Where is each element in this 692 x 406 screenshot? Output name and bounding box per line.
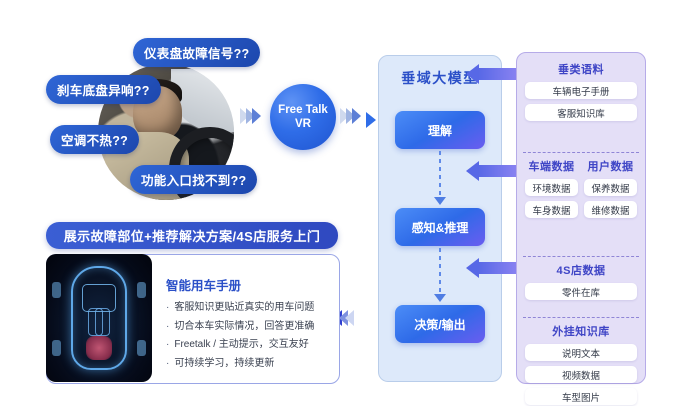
- stage-decision-output[interactable]: 决策/输出: [395, 305, 485, 343]
- column-user-data: 用户数据 保养数据 维修数据: [584, 158, 637, 218]
- result-card: 智能用车手册 · 客服知识更贴近真实的用车问题 · 切合本车实际情况，回答更准确…: [46, 254, 340, 384]
- result-bullet: · 切合本车实际情况，回答更准确: [166, 320, 329, 335]
- bullet-marker: ·: [166, 320, 169, 335]
- chevron-right-icon: [252, 108, 261, 124]
- stage-reasoning[interactable]: 感知&推理: [395, 208, 485, 246]
- freetalk-vr-node: Free Talk VR: [270, 84, 336, 150]
- chip-corpus-service-kb[interactable]: 客服知识库: [525, 104, 637, 121]
- section-title: 4S店数据: [525, 262, 637, 278]
- result-bullet: · 可持续学习，持续更新: [166, 357, 329, 372]
- section-title: 外挂知识库: [525, 323, 637, 339]
- model-pipeline-panel: 垂域大模型 理解 感知&推理 决策/输出: [378, 55, 502, 382]
- chip-body-data[interactable]: 车身数据: [525, 201, 578, 218]
- car-wheel: [52, 282, 61, 298]
- divider: [523, 152, 639, 153]
- chip-repair-data[interactable]: 维修数据: [584, 201, 637, 218]
- result-card-title: 智能用车手册: [166, 275, 329, 294]
- data-sources-panel: 垂类语料 车辆电子手册 客服知识库 车端数据 环境数据 车身数据 用户数据 保养…: [516, 52, 646, 384]
- dashed-connector: [439, 248, 441, 296]
- result-bullet: · 客服知识更贴近真实的用车问题: [166, 301, 329, 316]
- chevron-left-icon: [345, 310, 354, 326]
- infographic-canvas: 仪表盘故障信号?? 刹车底盘异响?? 空调不热?? 功能入口找不到?? Free…: [0, 0, 692, 406]
- feed-arrow-corpus: [478, 68, 520, 80]
- section-dealer-data: 4S店数据 零件在库: [525, 262, 637, 300]
- chip-car-model-images[interactable]: 车型图片: [525, 388, 637, 405]
- chip-video-data[interactable]: 视频数据: [525, 366, 637, 383]
- feed-arrow-data: [478, 165, 520, 177]
- car-wheel: [52, 340, 61, 356]
- stage-label: 理解: [428, 122, 452, 139]
- result-bullet: · Freetalk / 主动提示，交互友好: [166, 338, 329, 353]
- car-seat-right: [95, 308, 110, 336]
- arrow-into-model-icon: [366, 112, 376, 128]
- stage-understand[interactable]: 理解: [395, 111, 485, 149]
- divider: [523, 256, 639, 257]
- car-xray-image: [46, 254, 152, 382]
- result-banner-text: 展示故障部位+推荐解决方案/4S店服务上门: [64, 226, 321, 245]
- freetalk-line1: Free Talk: [278, 103, 328, 117]
- car-engine-highlight: [86, 336, 112, 360]
- bubble-text: 仪表盘故障信号??: [144, 43, 249, 62]
- column-vehicle-data: 车端数据 环境数据 车身数据: [525, 158, 578, 218]
- section-external-knowledge-base: 外挂知识库 说明文本 视频数据 车型图片: [525, 323, 637, 405]
- arrow-down-icon: [434, 197, 446, 205]
- bubble-text: 刹车底盘异响??: [57, 80, 150, 99]
- result-banner: 展示故障部位+推荐解决方案/4S店服务上门: [46, 222, 338, 249]
- section-corpus: 垂类语料 车辆电子手册 客服知识库: [525, 61, 637, 121]
- bullet-marker: ·: [166, 357, 169, 372]
- bullet-text: 可持续学习，持续更新: [174, 357, 274, 372]
- arrow-down-icon: [434, 294, 446, 302]
- bullet-text: 客服知识更贴近真实的用车问题: [174, 301, 314, 316]
- bullet-marker: ·: [166, 301, 169, 316]
- bullet-text: 切合本车实际情况，回答更准确: [174, 320, 314, 335]
- chevron-right-icon: [352, 108, 361, 124]
- chip-env-data[interactable]: 环境数据: [525, 179, 578, 196]
- chip-maintenance-data[interactable]: 保养数据: [584, 179, 637, 196]
- chevron-right-icon-group-left: [240, 108, 258, 124]
- arrow-left-icon: [466, 64, 479, 84]
- section-title: 车端数据: [525, 158, 578, 174]
- arrow-left-icon: [466, 258, 479, 278]
- freetalk-line2: VR: [295, 117, 311, 131]
- car-wheel: [137, 282, 146, 298]
- bullet-marker: ·: [166, 338, 169, 353]
- bullet-text: Freetalk / 主动提示，交互友好: [174, 338, 308, 353]
- dashed-connector: [439, 151, 441, 199]
- chip-corpus-manual[interactable]: 车辆电子手册: [525, 82, 637, 99]
- chip-parts-inventory[interactable]: 零件在库: [525, 283, 637, 300]
- divider: [523, 317, 639, 318]
- section-vehicle-and-user-data: 车端数据 环境数据 车身数据 用户数据 保养数据 维修数据: [525, 158, 637, 218]
- arrow-left-icon: [466, 161, 479, 181]
- chip-manual-text[interactable]: 说明文本: [525, 344, 637, 361]
- section-title: 用户数据: [584, 158, 637, 174]
- speech-bubble-brake: 刹车底盘异响??: [46, 75, 161, 104]
- car-outline: [71, 266, 127, 370]
- chevron-right-icon-group-right: [340, 108, 358, 124]
- bubble-text: 功能入口找不到??: [141, 170, 246, 189]
- stage-label: 决策/输出: [414, 316, 465, 333]
- result-text-block: 智能用车手册 · 客服知识更贴近真实的用车问题 · 切合本车实际情况，回答更准确…: [152, 255, 339, 383]
- bubble-text: 空调不热??: [61, 130, 128, 149]
- feed-arrow-knowledge: [478, 262, 520, 274]
- speech-bubble-dashboard: 仪表盘故障信号??: [133, 38, 260, 67]
- section-title: 垂类语料: [525, 61, 637, 77]
- speech-bubble-entry: 功能入口找不到??: [130, 165, 257, 194]
- stage-label: 感知&推理: [412, 219, 469, 236]
- car-wheel: [137, 340, 146, 356]
- speech-bubble-ac: 空调不热??: [50, 125, 139, 154]
